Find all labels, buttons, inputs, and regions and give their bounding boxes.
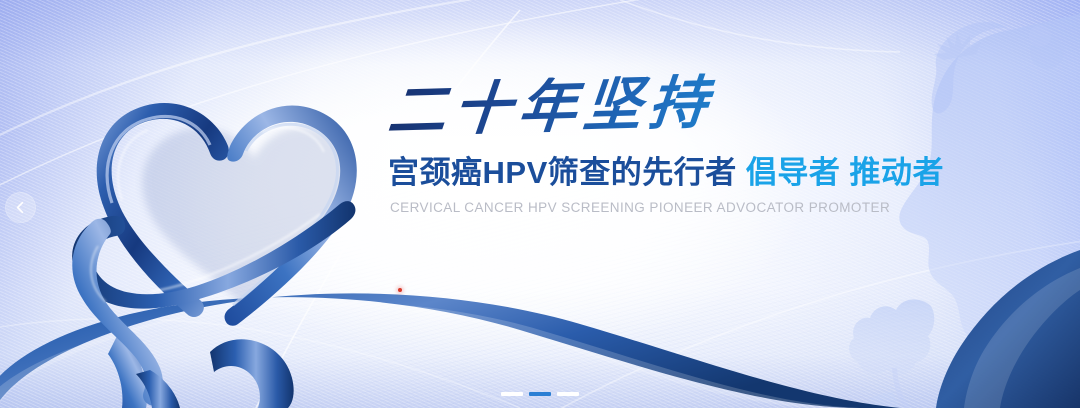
calligraphy-headline: 二十年坚持 [385,66,952,143]
main-title: 宫颈癌HPV筛查的先行者 倡导者 推动者 [388,155,948,192]
hero-banner: 二十年坚持 宫颈癌HPV筛查的先行者 倡导者 推动者 CERVICAL CANC… [0,0,1080,408]
top-sweep-decor [620,0,900,52]
carousel-indicators [0,392,1080,396]
banner-text-block: 二十年坚持 宫颈癌HPV筛查的先行者 倡导者 推动者 CERVICAL CANC… [388,82,948,215]
cursor-marker [398,288,402,292]
chevron-left-icon [14,201,27,214]
carousel-indicator-2[interactable] [529,392,551,396]
main-title-segment-dark: 宫颈癌HPV筛查的先行者 [388,155,737,190]
carousel-prev-button[interactable] [5,192,36,223]
carousel-indicator-1[interactable] [501,392,523,396]
subtitle-english: CERVICAL CANCER HPV SCREENING PIONEER AD… [390,200,948,215]
main-title-segment-bright: 倡导者 推动者 [746,155,944,190]
carousel-indicator-3[interactable] [557,392,579,396]
